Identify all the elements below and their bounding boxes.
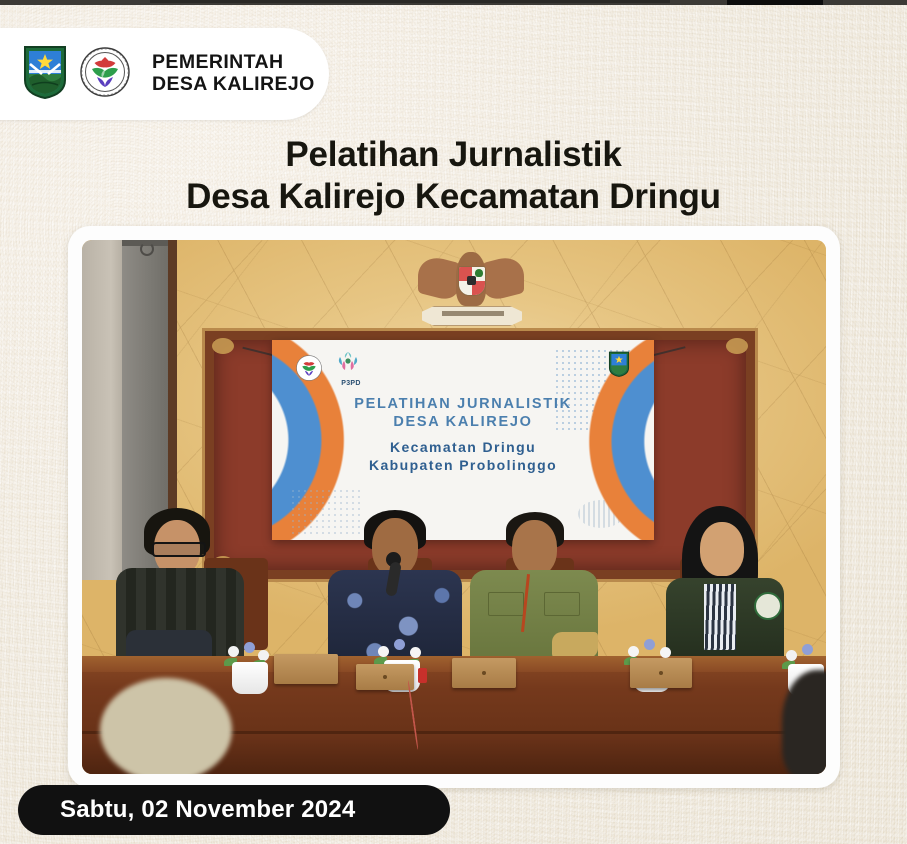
village-circular-logo	[80, 47, 130, 102]
banner-regency-logo	[608, 350, 630, 383]
person-4-head	[700, 522, 744, 576]
small-red-object	[418, 668, 427, 683]
person-3-hat-on-table	[552, 632, 598, 658]
header-org-line2: DESA KALIREJO	[152, 74, 315, 96]
garuda-pancasila-emblem	[416, 250, 526, 328]
garuda-wing-right	[482, 253, 524, 303]
banner-text-block: PELATIHAN JURNALISTIK DESA KALIREJO Keca…	[272, 396, 654, 475]
photo-curtain-hook	[140, 242, 154, 256]
cardboard-box-1	[274, 654, 338, 684]
banner-p3pd-label: P3PD	[341, 380, 361, 387]
cardboard-box-2	[356, 664, 414, 690]
banner-line2: DESA KALIREJO	[272, 414, 654, 432]
header-org-line1: PEMERINTAH	[152, 52, 315, 74]
garuda-wing-left	[418, 253, 460, 303]
date-badge: Sabtu, 02 November 2024	[18, 785, 450, 835]
garuda-shield	[458, 266, 486, 296]
banner-line1: PELATIHAN JURNALISTIK	[272, 396, 654, 414]
banner-village-logo	[296, 355, 322, 386]
foreground-audience-head-1	[100, 678, 232, 774]
top-edge-dark-segment	[150, 0, 670, 3]
garuda-ribbon	[422, 306, 522, 326]
cardboard-box-4	[630, 658, 692, 688]
person-4-badge-icon	[754, 592, 782, 620]
page-title-line1: Pelatihan Jurnalistik	[0, 136, 907, 175]
page-title-line2: Desa Kalirejo Kecamatan Dringu	[0, 178, 907, 217]
banner-watermark	[578, 500, 624, 528]
page-title: Pelatihan Jurnalistik Desa Kalirejo Keca…	[0, 136, 907, 216]
banner-p3pd-logo: P3PD	[334, 350, 368, 390]
person-1-glasses	[152, 542, 206, 557]
photo-frame: P3PD PELATIHAN JURNALISTIK DESA KALIREJO…	[68, 226, 840, 788]
person-4-inner-shirt	[704, 584, 736, 650]
person-3-head	[512, 520, 557, 576]
header-org-text: PEMERINTAH DESA KALIREJO	[152, 52, 315, 96]
cropped-top-edge-strip	[0, 0, 907, 5]
person-3-pocket-left	[488, 592, 524, 616]
flower-pot-1	[232, 662, 268, 694]
top-edge-black-segment	[727, 0, 823, 5]
regency-crest-logo	[22, 44, 68, 105]
event-banner: P3PD PELATIHAN JURNALISTIK DESA KALIREJO…	[272, 340, 654, 540]
banner-line4: Kabupaten Probolinggo	[272, 457, 654, 475]
banner-logo-group-left: P3PD	[296, 350, 368, 390]
banner-dot-pattern-left	[290, 488, 360, 534]
garuda-ribbon-text	[442, 311, 504, 316]
date-badge-text: Sabtu, 02 November 2024	[18, 796, 355, 824]
cardboard-box-3	[452, 658, 516, 688]
person-3-pocket-right	[544, 592, 580, 616]
banner-line3: Kecamatan Dringu	[272, 439, 654, 457]
header-brand-pill: PEMERINTAH DESA KALIREJO	[0, 28, 329, 120]
event-photograph: P3PD PELATIHAN JURNALISTIK DESA KALIREJO…	[82, 240, 826, 774]
